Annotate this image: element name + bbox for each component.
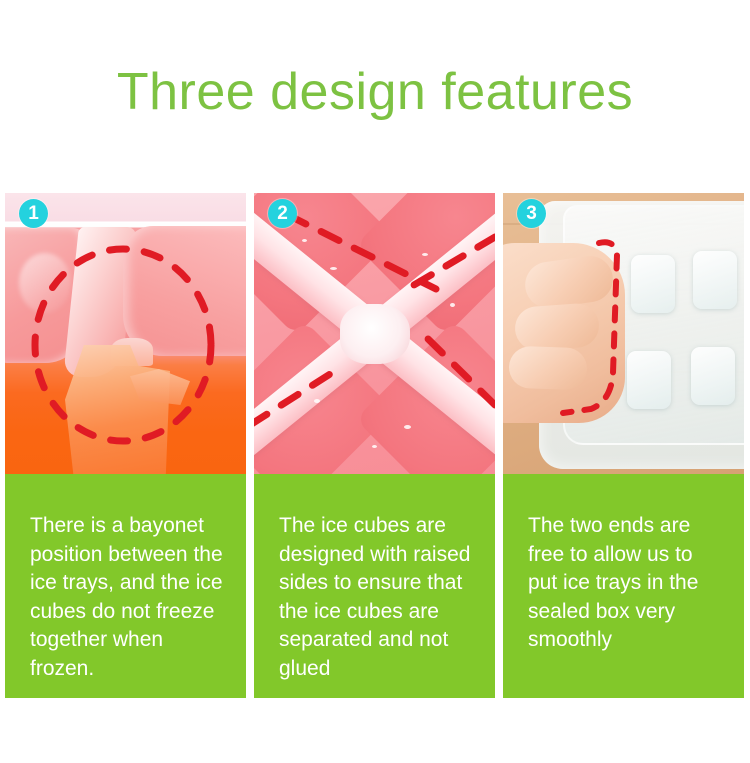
feature-caption-2: The ice cubes are designed with raised s… [254, 474, 495, 698]
water-droplet [450, 303, 455, 307]
water-droplet [404, 425, 411, 429]
feature-caption-3: The two ends are free to allow us to put… [503, 474, 744, 698]
water-droplet [422, 253, 428, 256]
feature-panel-3: 3 The two ends are free to allow us to p… [503, 193, 744, 698]
ice-tray-cube [693, 251, 737, 309]
feature-photo-1: 1 [5, 193, 246, 474]
ice-tray-cube [627, 351, 671, 409]
middle-finger [514, 302, 601, 352]
page-title: Three design features [0, 62, 750, 122]
step-badge-2: 2 [268, 199, 297, 228]
water-droplet [330, 267, 337, 270]
ice-tray-right-wall [123, 226, 246, 356]
feature-caption-1: There is a bayonet position between the … [5, 474, 246, 698]
feature-photo-3: 3 [503, 193, 744, 474]
ice-tray-cube [691, 347, 735, 405]
feature-photo-2: 2 [254, 193, 495, 474]
feature-panels-row: 1 There is a bayonet position between th… [5, 193, 745, 698]
feature-panel-1: 1 There is a bayonet position between th… [5, 193, 246, 698]
ring-finger [508, 346, 587, 391]
photo-highlight [19, 253, 71, 313]
water-droplet [372, 445, 377, 448]
infographic-page: Three design features 1 There is a bayon… [0, 0, 750, 763]
water-droplet [314, 399, 320, 403]
water-droplet [302, 239, 307, 242]
ice-tray-cube [631, 255, 675, 313]
feature-panel-2: 2 The ice cubes are designed with raised… [254, 193, 495, 698]
divider-center-hub [340, 304, 410, 364]
step-badge-1: 1 [19, 199, 48, 228]
step-badge-3: 3 [517, 199, 546, 228]
